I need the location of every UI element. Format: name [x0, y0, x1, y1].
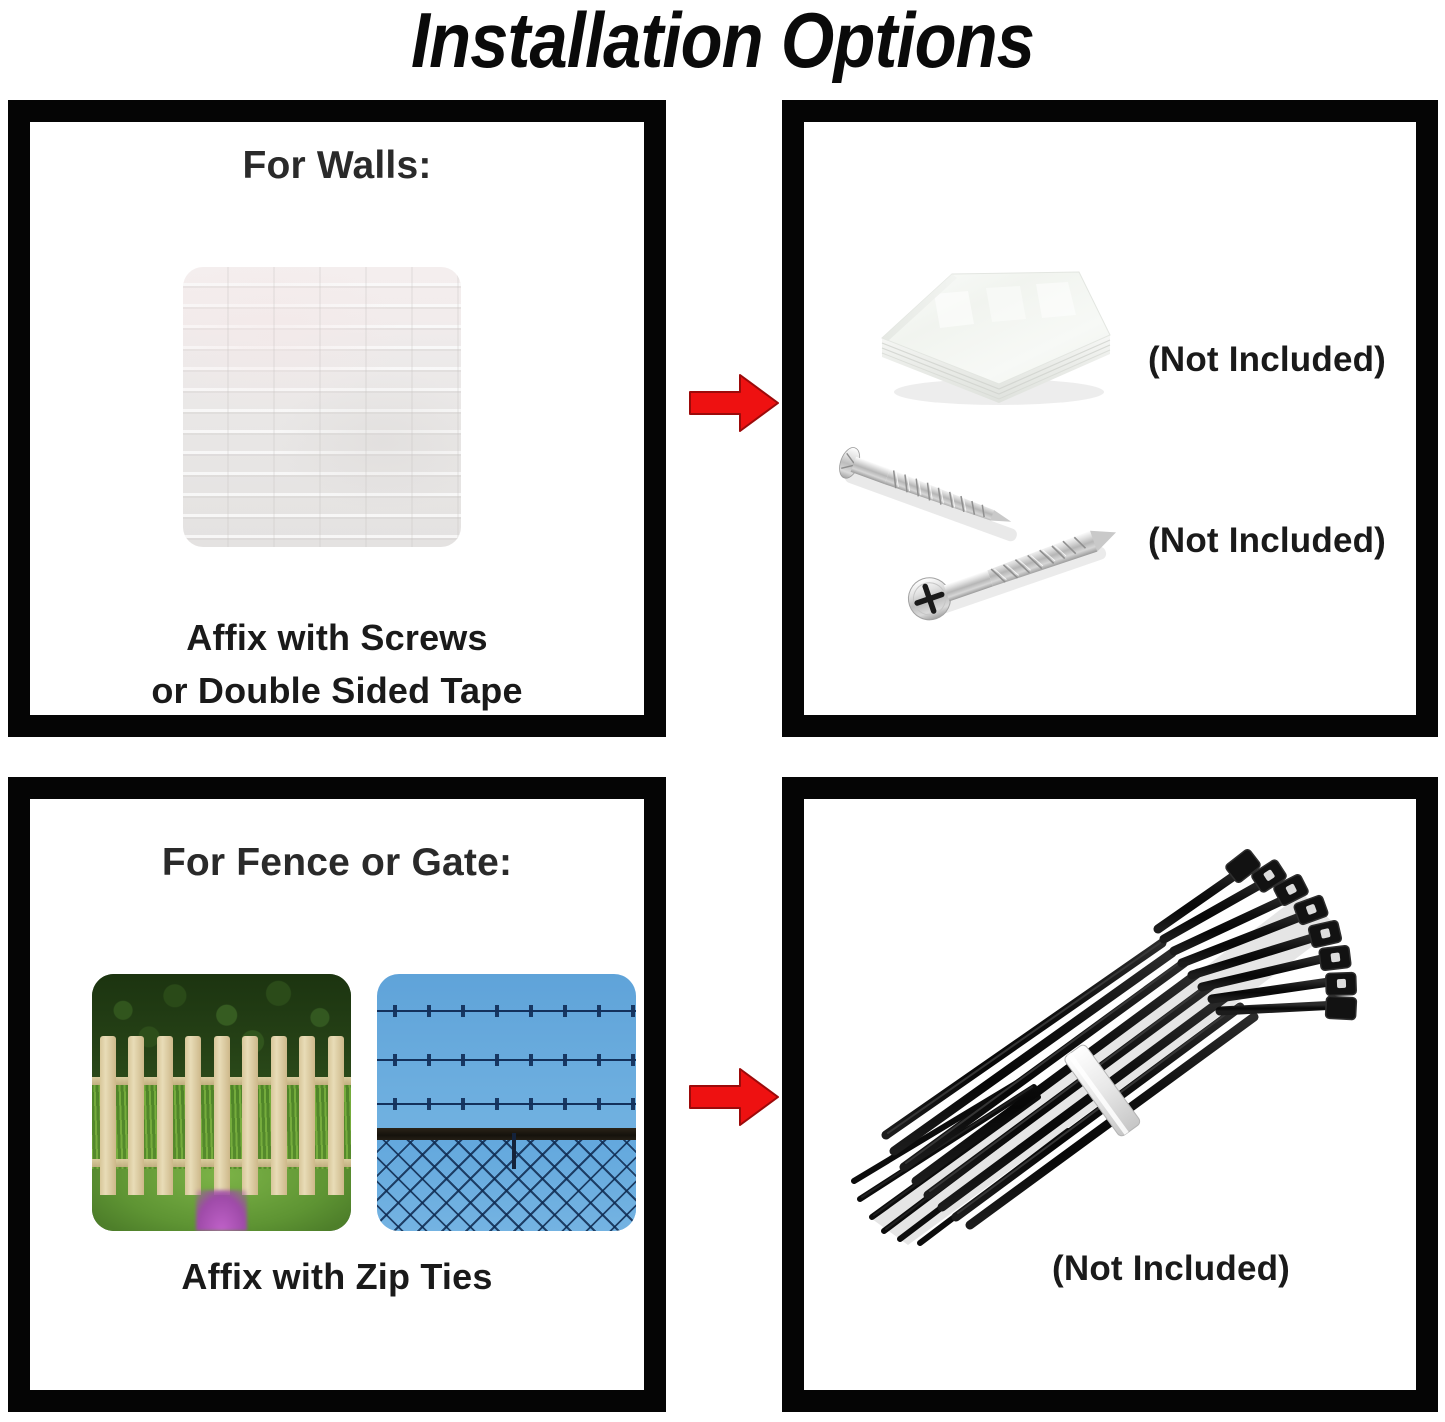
fence-caption-line-1: Affix with Zip Ties: [30, 1256, 644, 1298]
tape-not-included-label: (Not Included): [1148, 340, 1386, 380]
zipties-not-included-label: (Not Included): [1052, 1249, 1290, 1289]
picket-fence-photo: [92, 974, 351, 1231]
red-right-arrow-icon: [688, 1066, 780, 1128]
double-sided-tape-stack-image: [864, 242, 1124, 412]
zip-tie-bundle-image: [824, 839, 1394, 1259]
silver-screws-image: [822, 440, 1162, 670]
page-title: Installation Options: [87, 0, 1359, 86]
white-brick-wall-image: [183, 267, 461, 547]
chain-link-fence-photo: [377, 974, 636, 1231]
walls-caption-line-2: or Double Sided Tape: [30, 670, 644, 712]
panel-zip-ties: (Not Included): [782, 777, 1438, 1412]
screws-not-included-label: (Not Included): [1148, 521, 1386, 561]
panel-for-walls: For Walls: Affix with Screws or Double S…: [8, 100, 666, 737]
for-walls-heading: For Walls:: [30, 144, 644, 188]
for-fence-or-gate-heading: For Fence or Gate:: [30, 841, 644, 885]
panel-wall-hardware: (Not Included): [782, 100, 1438, 737]
red-right-arrow-icon: [688, 372, 780, 434]
walls-caption-line-1: Affix with Screws: [30, 617, 644, 659]
panel-for-fence-or-gate: For Fence or Gate:: [8, 777, 666, 1412]
